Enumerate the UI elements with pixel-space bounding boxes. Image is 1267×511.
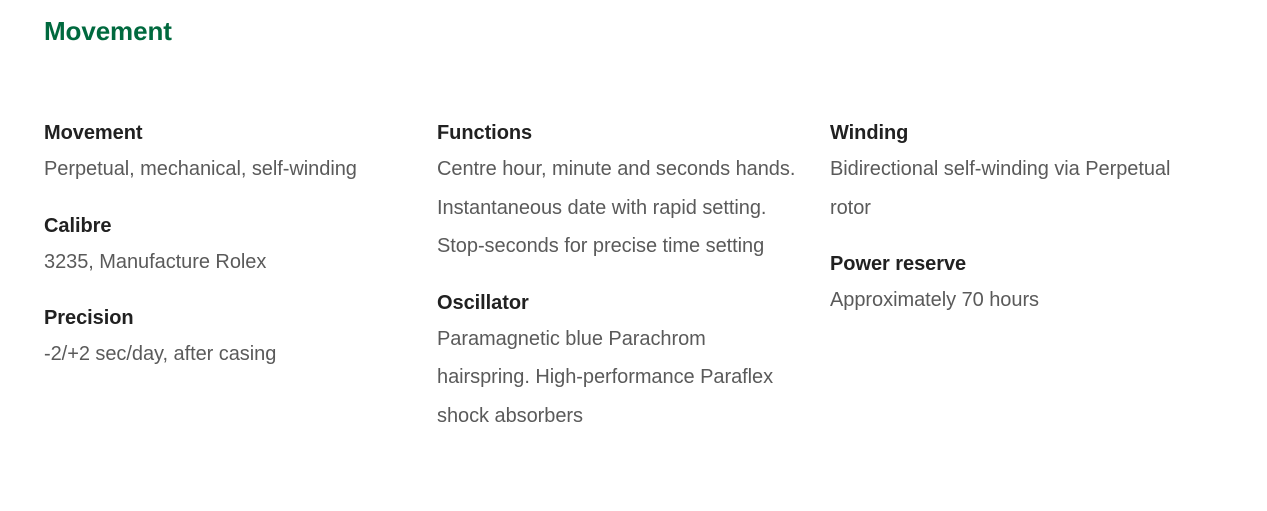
spec-label-movement: Movement	[44, 118, 409, 148]
spec-value-calibre: 3235, Manufacture Rolex	[44, 243, 409, 282]
spec-value-winding: Bidirectional self-winding via Perpetual…	[830, 150, 1195, 227]
spec-column-3: Winding Bidirectional self-winding via P…	[830, 118, 1195, 320]
spec-label-calibre: Calibre	[44, 211, 409, 241]
spec-block-oscillator: Oscillator Paramagnetic blue Parachrom h…	[437, 288, 802, 436]
movement-specifications-panel: Movement Movement Perpetual, mechanical,…	[0, 0, 1267, 511]
spec-label-power-reserve: Power reserve	[830, 249, 1195, 279]
spec-label-functions: Functions	[437, 118, 802, 148]
spec-value-functions: Centre hour, minute and seconds hands. I…	[437, 150, 802, 266]
spec-label-oscillator: Oscillator	[437, 288, 802, 318]
spec-columns: Movement Perpetual, mechanical, self-win…	[44, 118, 1234, 435]
spec-block-winding: Winding Bidirectional self-winding via P…	[830, 118, 1195, 227]
spec-column-2: Functions Centre hour, minute and second…	[437, 118, 802, 435]
spec-block-calibre: Calibre 3235, Manufacture Rolex	[44, 211, 409, 282]
spec-block-power-reserve: Power reserve Approximately 70 hours	[830, 249, 1195, 320]
spec-value-power-reserve: Approximately 70 hours	[830, 281, 1195, 320]
spec-block-movement: Movement Perpetual, mechanical, self-win…	[44, 118, 409, 189]
spec-value-oscillator: Paramagnetic blue Parachrom hairspring. …	[437, 320, 802, 436]
spec-column-1: Movement Perpetual, mechanical, self-win…	[44, 118, 409, 374]
spec-value-movement: Perpetual, mechanical, self-winding	[44, 150, 409, 189]
spec-block-functions: Functions Centre hour, minute and second…	[437, 118, 802, 266]
spec-label-winding: Winding	[830, 118, 1195, 148]
spec-block-precision: Precision -2/+2 sec/day, after casing	[44, 303, 409, 374]
spec-value-precision: -2/+2 sec/day, after casing	[44, 335, 409, 374]
spec-label-precision: Precision	[44, 303, 409, 333]
page-title: Movement	[44, 14, 172, 48]
